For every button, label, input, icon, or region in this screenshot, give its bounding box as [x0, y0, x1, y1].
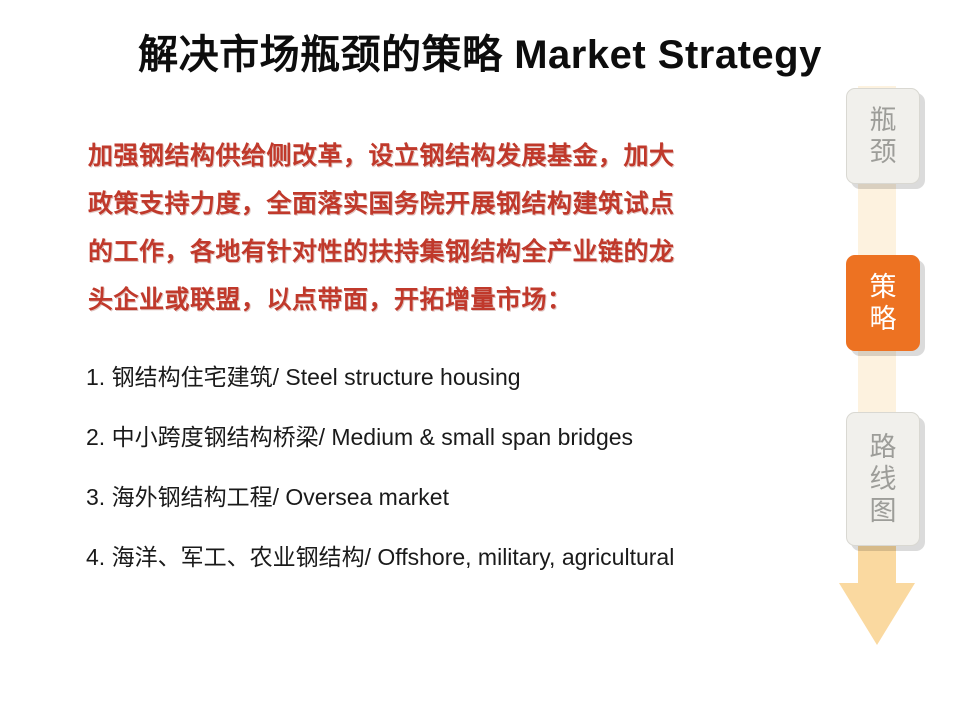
- numbered-list: 1. 钢结构住宅建筑/ Steel structure housing 2. 中…: [86, 362, 876, 572]
- emphasis-paragraph: 加强钢结构供给侧改革，设立钢结构发展基金，加大 政策支持力度，全面落实国务院开展…: [88, 132, 818, 324]
- slide-canvas: 解决市场瓶颈的策略 Market Strategy 加强钢结构供给侧改革，设立钢…: [0, 0, 960, 720]
- nav-chip-strategy[interactable]: 策 略: [846, 255, 920, 351]
- nav-chip-char: 路: [870, 431, 897, 463]
- emphasis-line: 头企业或联盟，以点带面，开拓增量市场：: [88, 276, 818, 324]
- nav-chip-char: 线: [870, 463, 897, 495]
- nav-chip-roadmap[interactable]: 路 线 图: [846, 412, 920, 546]
- nav-chip-char: 策: [870, 271, 897, 303]
- list-item: 4. 海洋、军工、农业钢结构/ Offshore, military, agri…: [86, 542, 876, 572]
- down-arrow-icon-shaft: [858, 544, 896, 586]
- list-item: 2. 中小跨度钢结构桥梁/ Medium & small span bridge…: [86, 422, 876, 452]
- nav-chip-char: 图: [870, 495, 897, 527]
- emphasis-line: 的工作，各地有针对性的扶持集钢结构全产业链的龙: [88, 228, 818, 276]
- list-item: 1. 钢结构住宅建筑/ Steel structure housing: [86, 362, 876, 392]
- page-title: 解决市场瓶颈的策略 Market Strategy: [60, 24, 900, 86]
- nav-chip-char: 略: [870, 303, 897, 335]
- section-navigation-rail: 瓶 颈 策 略 路 线 图: [830, 78, 960, 653]
- nav-chip-char: 瓶: [870, 104, 897, 136]
- nav-chip-bottleneck[interactable]: 瓶 颈: [846, 88, 920, 184]
- list-item: 3. 海外钢结构工程/ Oversea market: [86, 482, 876, 512]
- down-arrow-icon: [839, 583, 915, 645]
- nav-chip-char: 颈: [870, 136, 897, 168]
- emphasis-line: 加强钢结构供给侧改革，设立钢结构发展基金，加大: [88, 132, 818, 180]
- emphasis-line: 政策支持力度，全面落实国务院开展钢结构建筑试点: [88, 180, 818, 228]
